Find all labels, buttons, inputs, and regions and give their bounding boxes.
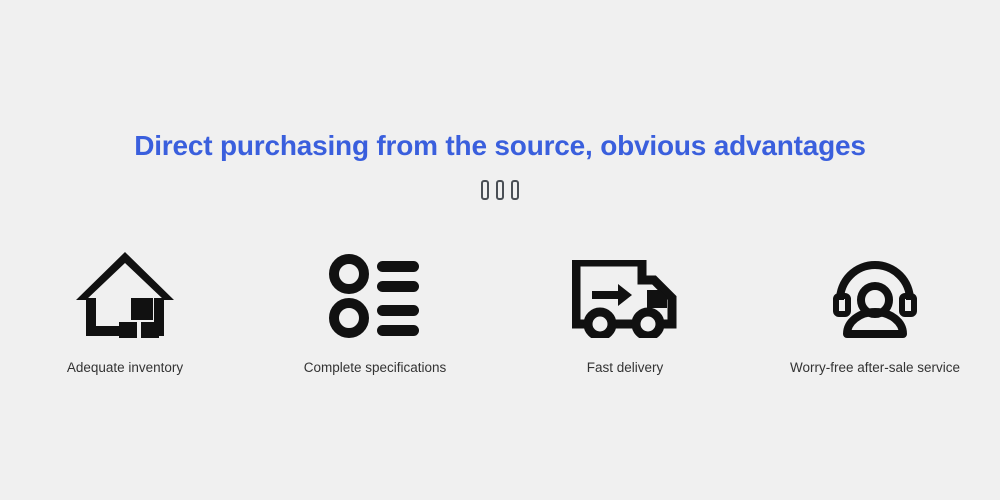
promo-banner: Direct purchasing from the source, obvio…: [0, 0, 1000, 500]
feature-item-after-sale-service: Worry-free after-sale service: [750, 246, 1000, 376]
feature-item-adequate-inventory: Adequate inventory: [0, 246, 250, 376]
divider-pill-icon: [511, 180, 519, 200]
divider-pill-icon: [481, 180, 489, 200]
feature-label: Fast delivery: [587, 360, 664, 376]
specification-list-icon: [329, 246, 421, 338]
triple-pill-divider: [0, 180, 1000, 200]
delivery-truck-icon: [572, 246, 678, 338]
feature-label: Worry-free after-sale service: [790, 360, 960, 376]
feature-item-fast-delivery: Fast delivery: [500, 246, 750, 376]
page-title: Direct purchasing from the source, obvio…: [134, 131, 866, 162]
headset-support-icon: [833, 246, 917, 338]
feature-label: Complete specifications: [304, 360, 447, 376]
feature-item-complete-specifications: Complete specifications: [250, 246, 500, 376]
page-title-container: Direct purchasing from the source, obvio…: [0, 112, 1000, 180]
feature-label: Adequate inventory: [67, 360, 183, 376]
feature-list: Adequate inventory Complete specificatio…: [0, 246, 1000, 376]
divider-pill-icon: [496, 180, 504, 200]
warehouse-icon: [74, 246, 176, 338]
